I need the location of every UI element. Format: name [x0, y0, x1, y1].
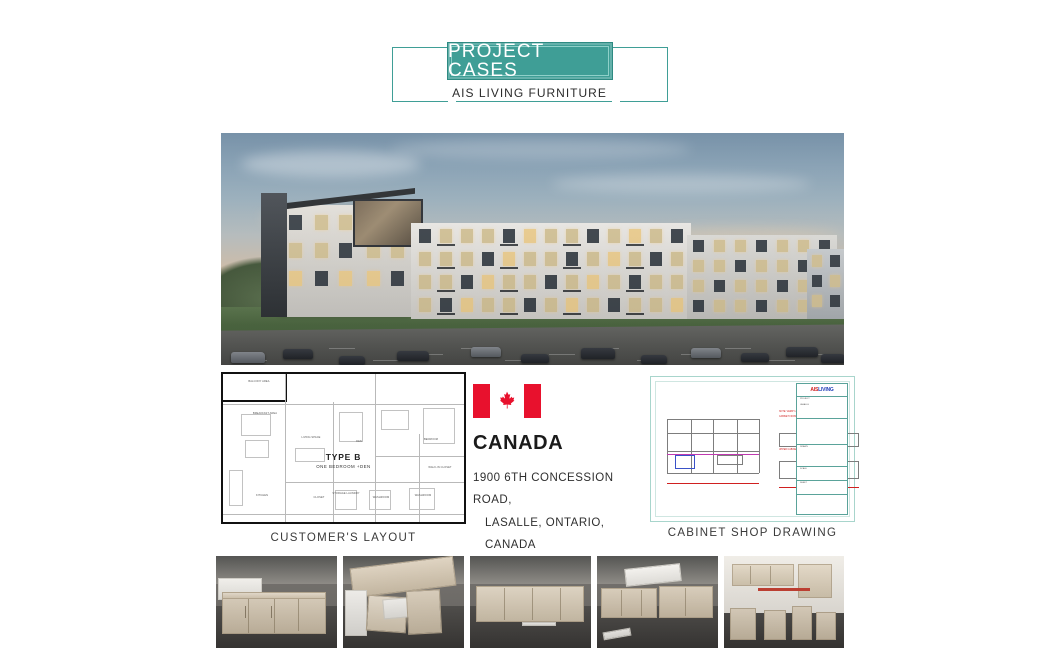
cad-accent-line — [667, 454, 759, 455]
plan-fixture — [241, 414, 271, 436]
plan-balcony-notch — [221, 372, 287, 402]
title-block-divider — [797, 480, 847, 481]
plan-wall — [333, 402, 334, 524]
photo-cabinet-run-in-factory-with-sink-counter — [216, 556, 337, 648]
cad-box — [717, 455, 743, 465]
plan-fixture — [339, 412, 363, 442]
cad-line — [759, 419, 760, 473]
plan-room-bedroom: BEDROOM — [409, 438, 453, 442]
plan-type-sub: ONE BEDROOM +DEN — [223, 464, 464, 469]
plan-room-storage: STORAGE LAUNDRY — [329, 492, 363, 496]
plan-fixture — [229, 470, 243, 506]
title-block-field: SCALE — [800, 468, 807, 470]
project-cases-page: PROJECT CASES AIS LIVING FURNITURE — [0, 0, 1059, 650]
plan-fixture — [381, 410, 409, 430]
title-block-field: SHEET — [800, 482, 807, 484]
photo-tone — [597, 556, 718, 648]
logo-text-living: LIVING — [818, 387, 833, 393]
brand-subtitle-row: AIS LIVING FURNITURE — [0, 86, 1059, 100]
plan-type-label: TYPE B — [223, 452, 464, 462]
country-name: CANADA — [473, 432, 643, 455]
title-block-divider — [797, 444, 847, 445]
photo-stacked-cabinet-panels-on-pallet — [343, 556, 464, 648]
country-block: CANADA 1900 6TH CONCESSION ROAD, LASALLE… — [473, 384, 643, 514]
plan-room-washroom1: WASHROOM — [363, 496, 399, 500]
cabinet-shop-drawing: NOTE: VERIFY ALL DIMENSIONS ON SITE CABI… — [650, 376, 855, 522]
photo-tone — [470, 556, 591, 648]
photo-tone — [724, 556, 844, 648]
plan-wall — [419, 434, 420, 524]
photo-tone — [343, 556, 464, 648]
brand-subtitle: AIS LIVING FURNITURE — [438, 86, 621, 100]
title-block-divider — [797, 418, 847, 419]
cad-line — [667, 419, 668, 473]
title-block-field: LASALLE — [800, 404, 809, 406]
plan-wall — [223, 514, 466, 515]
plan-fixture — [369, 490, 391, 510]
photo-tone — [216, 556, 337, 648]
plan-wall — [223, 404, 466, 405]
canada-flag-icon — [473, 384, 541, 418]
page-title-badge: PROJECT CASES — [447, 42, 613, 80]
photo-assembled-cabinet-base-row-on-floor — [470, 556, 591, 648]
image-tone-overlay — [221, 133, 844, 365]
plan-room-balcony: BALCONY AREA — [237, 380, 281, 384]
cad-dimension-line — [667, 483, 759, 484]
caption-customer-layout: CUSTOMER'S LAYOUT — [221, 532, 466, 544]
hero-building-image — [221, 133, 844, 365]
photo-full-kitchen-cabinet-mockup-assembly — [724, 556, 844, 648]
title-block-divider — [797, 466, 847, 467]
plan-wall — [285, 374, 286, 524]
caption-cabinet-shop-drawing: CABINET SHOP DRAWING — [650, 527, 855, 539]
plan-fixture — [409, 488, 435, 510]
cad-highlight-box — [675, 455, 695, 469]
logo-text-ais: AIS — [810, 387, 818, 393]
address-line-1: 1900 6TH CONCESSION ROAD, — [473, 472, 614, 506]
photo-cabinet-row-with-packaging-materials — [597, 556, 718, 648]
customer-floor-plan: BALCONY AREA BREAKFAST AREA LIVING SPACE… — [221, 372, 466, 524]
plan-room-closet2: CLOSET — [305, 496, 333, 500]
maple-leaf-icon — [496, 390, 518, 412]
plan-room-breakfast: BREAKFAST AREA — [243, 412, 287, 416]
title-block-field: DRAWN — [800, 446, 808, 448]
flag-bar-left — [473, 384, 490, 418]
cad-line — [667, 473, 759, 474]
cad-line — [713, 419, 714, 473]
plan-room-den: DEN — [345, 440, 373, 444]
page-title: PROJECT CASES — [448, 42, 612, 80]
address-line-2: LASALLE, ONTARIO, CANADA — [473, 512, 643, 557]
title-block-field: PROJECT — [800, 398, 810, 400]
project-detail-row: BALCONY AREA BREAKFAST AREA LIVING SPACE… — [0, 372, 1059, 532]
title-block-divider — [797, 494, 847, 495]
flag-bar-right — [524, 384, 541, 418]
project-address: 1900 6TH CONCESSION ROAD, LASALLE, ONTAR… — [473, 467, 643, 557]
drawing-title-block: AISLIVING PROJECT LASALLE DRAWN SCALE SH… — [796, 383, 848, 515]
ais-living-logo: AISLIVING — [799, 386, 845, 394]
plan-wall — [285, 482, 466, 483]
page-header: PROJECT CASES AIS LIVING FURNITURE — [0, 0, 1059, 120]
production-photo-strip — [216, 556, 844, 648]
title-block-divider — [797, 396, 847, 397]
plan-room-living: LIVING SPACE — [291, 436, 331, 440]
plan-room-kitchen: KITCHEN — [245, 494, 279, 498]
plan-room-washroom2: WASHROOM — [405, 494, 441, 498]
